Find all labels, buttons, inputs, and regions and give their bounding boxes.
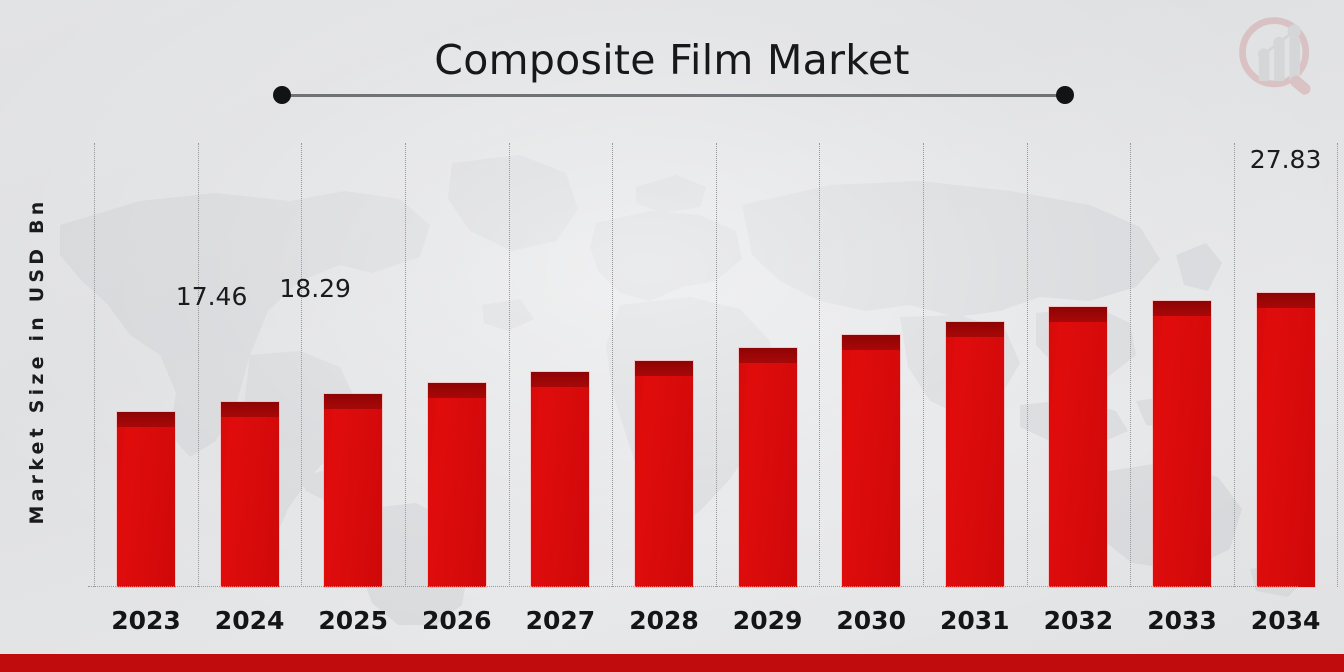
bar-cap-2034 xyxy=(1257,293,1315,308)
bar-cap-2031 xyxy=(946,322,1004,337)
x-tick-2024: 2024 xyxy=(190,606,310,635)
gridline-vertical xyxy=(405,143,406,587)
bar-2026[interactable] xyxy=(428,383,486,587)
axis-baseline xyxy=(88,586,1298,587)
gridline-vertical xyxy=(612,143,613,587)
bar-2025[interactable] xyxy=(324,394,382,587)
bar-2024[interactable] xyxy=(221,402,279,587)
gridline-vertical xyxy=(819,143,820,587)
bar-cap-2032 xyxy=(1049,307,1107,322)
rule-endpoint-left-dot xyxy=(273,86,291,104)
gridline-vertical xyxy=(301,143,302,587)
gridline-vertical xyxy=(94,143,95,587)
data-label-2034: 27.83 xyxy=(1226,145,1344,174)
gridline-vertical xyxy=(923,143,924,587)
x-tick-2025: 2025 xyxy=(293,606,413,635)
bar-cap-2026 xyxy=(428,383,486,398)
plot-area xyxy=(88,143,1288,587)
bar-cap-2027 xyxy=(531,372,589,387)
gridline-vertical xyxy=(198,143,199,587)
x-tick-2031: 2031 xyxy=(915,606,1035,635)
page-title: Composite Film Market xyxy=(0,38,1344,83)
bar-cap-2029 xyxy=(739,348,797,363)
gridline-vertical xyxy=(1337,143,1338,587)
bar-2033[interactable] xyxy=(1153,301,1211,587)
x-tick-2027: 2027 xyxy=(500,606,620,635)
bar-cap-2028 xyxy=(635,361,693,376)
bar-2034[interactable] xyxy=(1257,293,1315,587)
bar-2029[interactable] xyxy=(739,348,797,587)
gridline-vertical xyxy=(509,143,510,587)
bar-2030[interactable] xyxy=(842,335,900,587)
data-label-2025: 18.29 xyxy=(255,274,375,303)
x-tick-2032: 2032 xyxy=(1018,606,1138,635)
chart-canvas: Composite Film Market Market Size in USD… xyxy=(0,0,1344,672)
title-underline-rule xyxy=(282,94,1065,97)
gridline-vertical xyxy=(1234,143,1235,587)
gridline-vertical xyxy=(716,143,717,587)
bar-cap-2033 xyxy=(1153,301,1211,316)
bar-cap-2030 xyxy=(842,335,900,350)
x-tick-2026: 2026 xyxy=(397,606,517,635)
y-axis-title: Market Size in USD Bn xyxy=(26,151,48,571)
x-tick-2034: 2034 xyxy=(1226,606,1344,635)
x-tick-2028: 2028 xyxy=(604,606,724,635)
data-label-2024: 17.46 xyxy=(152,282,272,311)
bar-2028[interactable] xyxy=(635,361,693,587)
x-tick-2030: 2030 xyxy=(811,606,931,635)
bar-cap-2025 xyxy=(324,394,382,409)
bar-2027[interactable] xyxy=(531,372,589,587)
bar-2032[interactable] xyxy=(1049,307,1107,587)
gridline-vertical xyxy=(1130,143,1131,587)
bar-2031[interactable] xyxy=(946,322,1004,587)
x-tick-2029: 2029 xyxy=(708,606,828,635)
rule-endpoint-right-dot xyxy=(1056,86,1074,104)
x-tick-2023: 2023 xyxy=(86,606,206,635)
gridline-vertical xyxy=(1027,143,1028,587)
bar-cap-2024 xyxy=(221,402,279,417)
bar-2023[interactable] xyxy=(117,412,175,587)
bar-cap-2023 xyxy=(117,412,175,427)
x-tick-2033: 2033 xyxy=(1122,606,1242,635)
footer-accent-bar xyxy=(0,654,1344,672)
